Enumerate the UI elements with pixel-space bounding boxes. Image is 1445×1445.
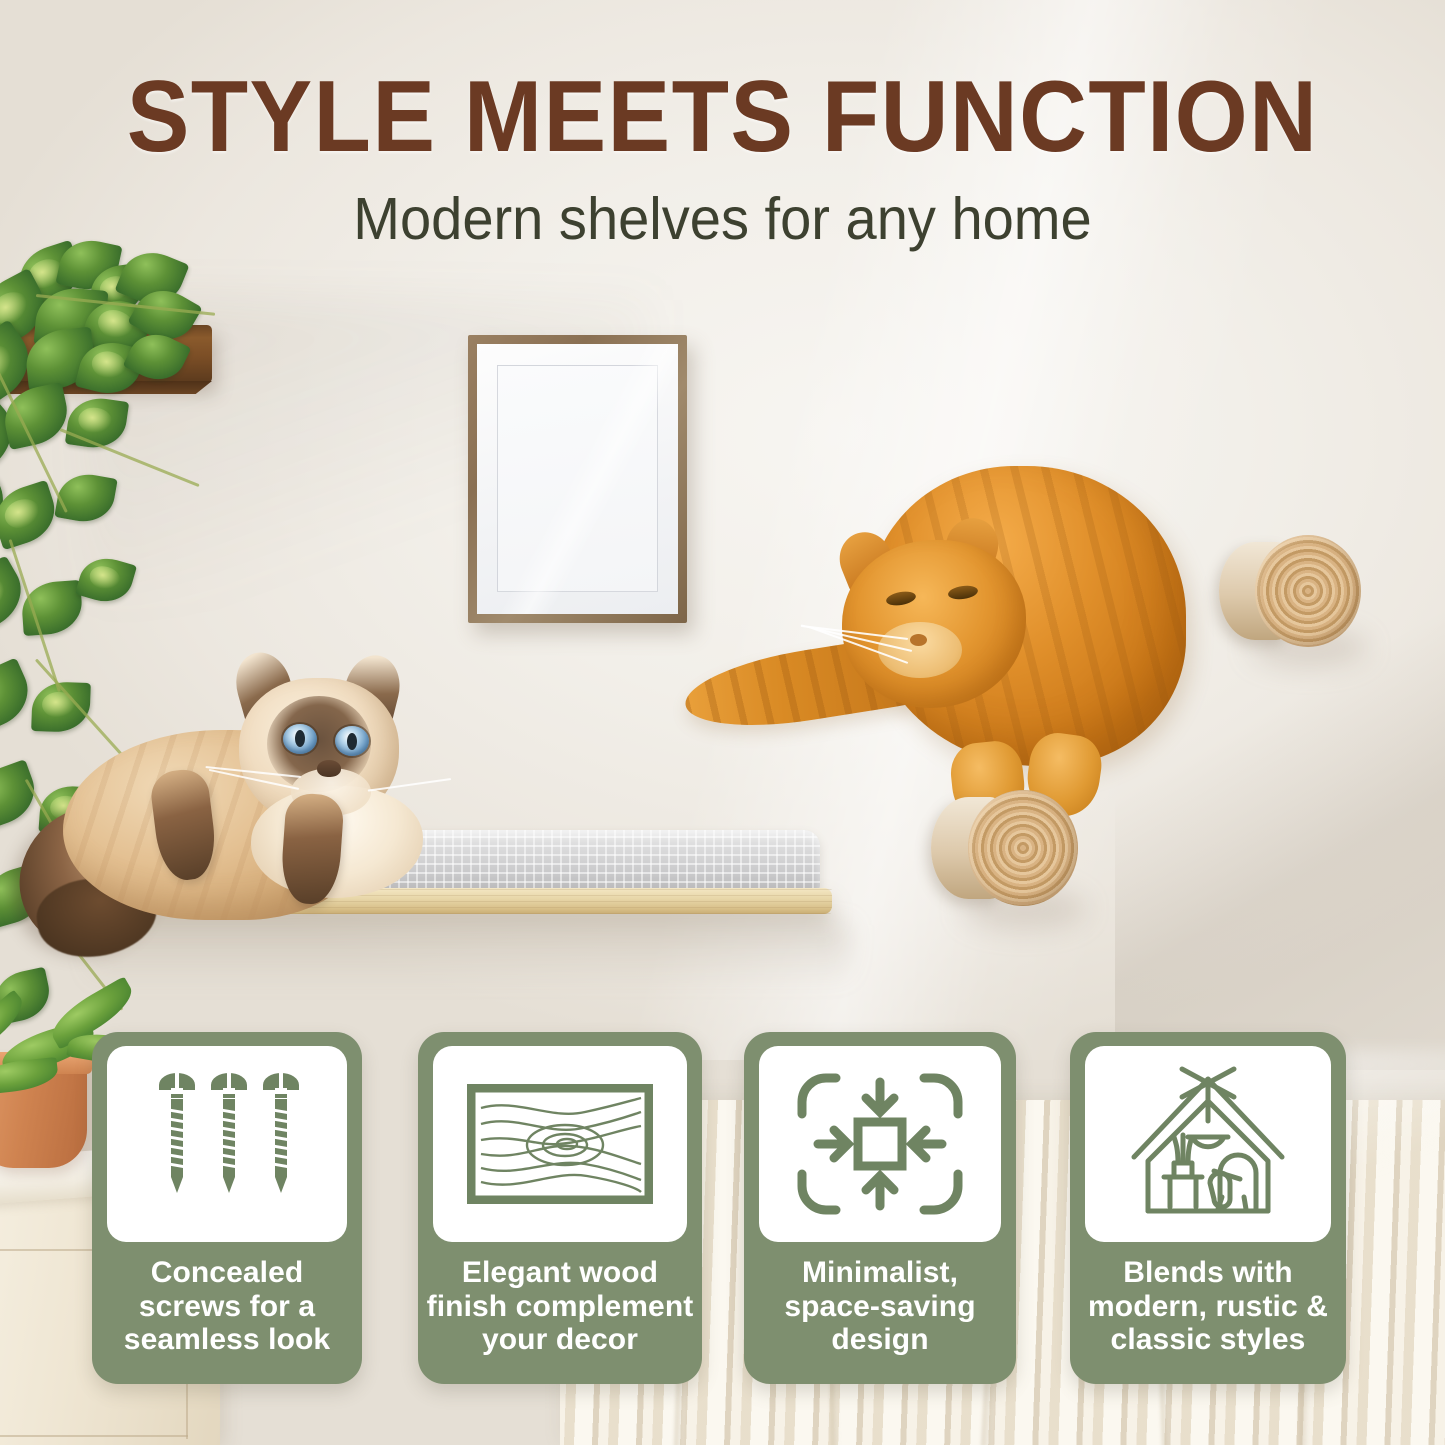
wooden-picture-frame xyxy=(468,335,687,623)
ginger-cat-nose xyxy=(910,634,927,646)
feature-card-wood-finish[interactable]: Elegant wood finish complement your deco… xyxy=(418,1032,702,1384)
feature-card-concealed-screws[interactable]: Concealed screws for a seamless look xyxy=(92,1032,362,1384)
sisal-rope-step-right xyxy=(1255,535,1361,647)
feature-card-row: Concealed screws for a seamless look xyxy=(0,1032,1445,1384)
ragdoll-cat-eye-right xyxy=(335,726,369,756)
pothos-leaf xyxy=(75,552,137,609)
feature-card-caption: Blends with modern, rustic & classic sty… xyxy=(1070,1256,1346,1357)
wood-grain-plank-icon xyxy=(433,1046,687,1242)
ragdoll-cat xyxy=(15,610,445,1010)
feature-card-space-saving[interactable]: Minimalist, space-saving design xyxy=(744,1032,1016,1384)
page-subtitle: Modern shelves for any home xyxy=(36,185,1409,253)
sisal-rope-step-left xyxy=(968,790,1078,906)
compress-arrows-square-icon xyxy=(759,1046,1001,1242)
ginger-cat-muzzle xyxy=(878,622,962,678)
page-title: STYLE MEETS FUNCTION xyxy=(51,60,1395,175)
feature-card-caption: Concealed screws for a seamless look xyxy=(92,1256,362,1357)
three-screws-icon xyxy=(107,1046,347,1242)
feature-card-blends-styles[interactable]: Blends with modern, rustic & classic sty… xyxy=(1070,1032,1346,1384)
ragdoll-cat-nose xyxy=(317,760,341,777)
pothos-leaf xyxy=(0,382,73,450)
feature-card-caption: Minimalist, space-saving design xyxy=(744,1256,1016,1357)
house-interior-icon xyxy=(1085,1046,1331,1242)
ragdoll-cat-eye-left xyxy=(283,724,317,754)
cabinet-panel-line xyxy=(0,1435,188,1437)
feature-card-caption: Elegant wood finish complement your deco… xyxy=(418,1256,702,1357)
product-lifestyle-image: STYLE MEETS FUNCTION Modern shelves for … xyxy=(0,0,1445,1445)
pothos-leaf xyxy=(54,470,117,527)
